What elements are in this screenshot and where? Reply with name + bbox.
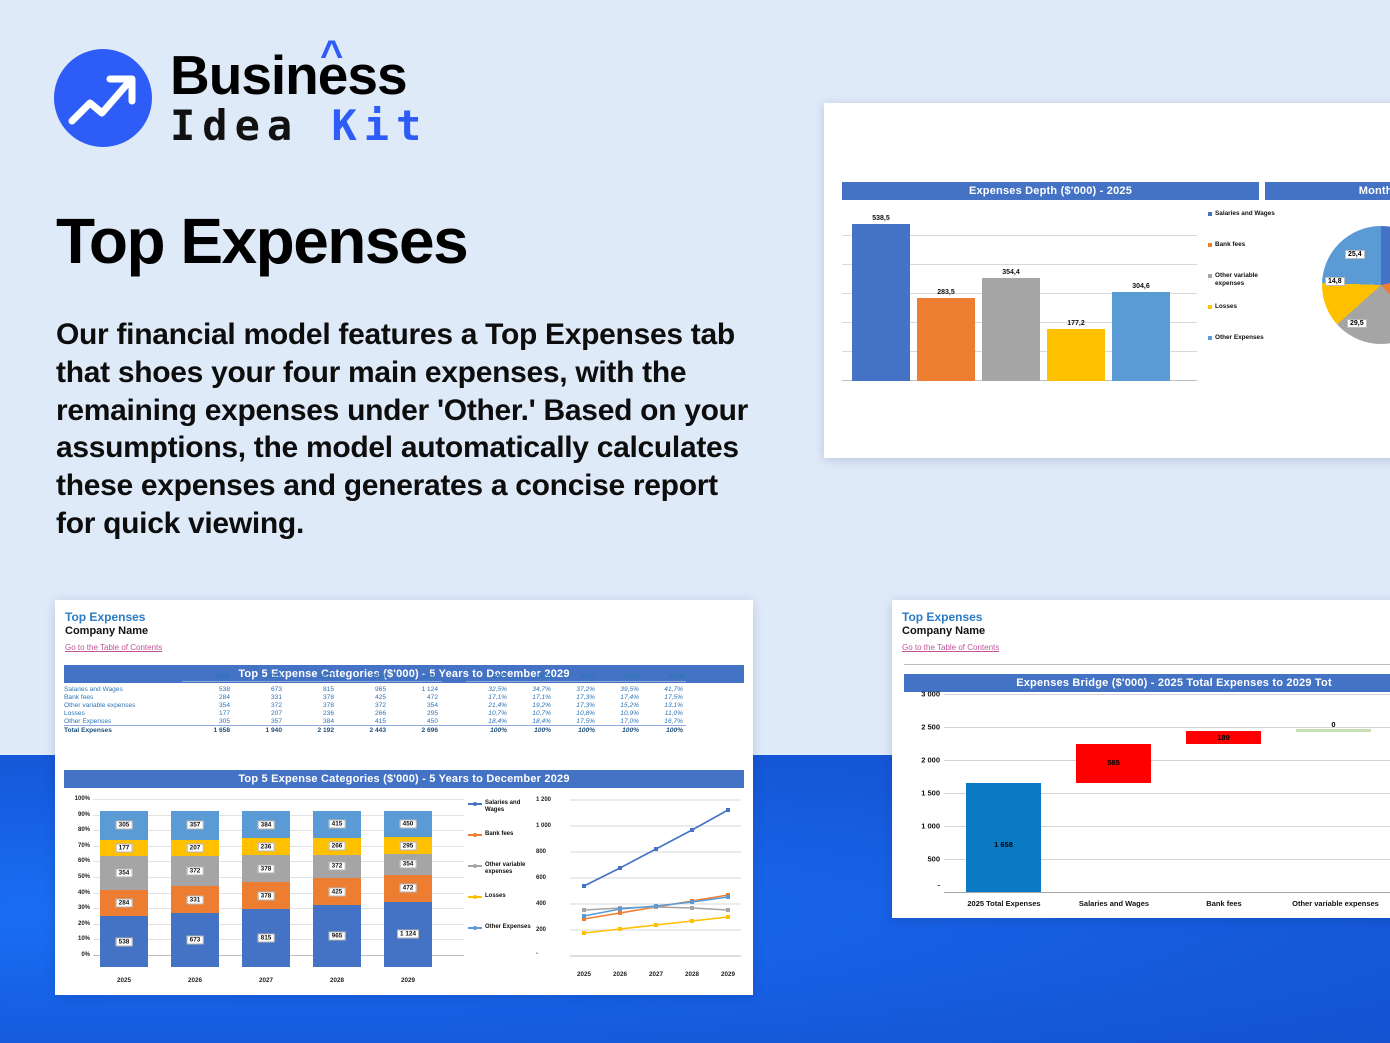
table-of-contents-link[interactable]: Go to the Table of Contents xyxy=(65,643,162,652)
xtick-salaries-and-wages: Salaries and Wages xyxy=(1064,899,1164,908)
stacked-column-2027: 384 236 378 378 815 xyxy=(242,811,290,967)
ytick-3000: 3 000 xyxy=(902,690,940,699)
bar-label-bank-fees: 283,5 xyxy=(917,289,975,296)
row-label-losses: Losses xyxy=(64,709,182,717)
legend-label-other-expenses: Other Expenses xyxy=(485,924,531,930)
stacked-column-2026: 357 207 372 331 673 xyxy=(171,811,219,967)
bar-losses xyxy=(1047,329,1105,381)
ytick-10: 10% xyxy=(64,936,90,942)
stacked-column-2028: 415 266 372 425 965 xyxy=(313,811,361,967)
legend-label-losses: Losses xyxy=(1215,303,1237,310)
sheet-company-name: Company Name xyxy=(902,625,1390,637)
bar-label-salaries-and-wages: 538,5 xyxy=(852,215,910,222)
brand-name-line2: Idea Kit xyxy=(170,105,428,147)
legend-label-salaries-and-wages: Salaries and Wages xyxy=(1215,210,1275,217)
col-header-2025: 2025 xyxy=(182,672,234,681)
ytick-1000: 1 000 xyxy=(902,822,940,831)
pct-header-2027: 2027 xyxy=(554,672,598,681)
chart-title-monthly-run-rate: Monthly Run-Rate ($'000 xyxy=(1265,182,1390,200)
xtick-2029: 2029 xyxy=(384,977,432,984)
table-total-row: Total Expenses 1 658 1 940 2 192 2 443 2… xyxy=(64,726,686,735)
brand-idea-text: Idea xyxy=(170,101,331,150)
sheet-header-left: Top Expenses Company Name Go to the Tabl… xyxy=(55,600,753,655)
expense-trend-line-chart: 1 200 1 000 800 600 400 200 - xyxy=(536,794,746,984)
ytick-100: 100% xyxy=(64,796,90,802)
sheet-company-name: Company Name xyxy=(65,625,753,637)
legend-label-losses: Losses xyxy=(485,893,506,899)
bar-salaries-and-wages xyxy=(852,224,910,381)
hero-description: Our financial model features a Top Expen… xyxy=(56,316,756,543)
ytick-70: 70% xyxy=(64,843,90,849)
xtick-2029: 2029 xyxy=(704,971,752,978)
expenses-depth-bar-chart: 538,5 283,5 354,4 177,2 304,6 xyxy=(842,206,1197,381)
xtick-2027: 2027 xyxy=(242,977,290,984)
ytick-500: 500 xyxy=(902,855,940,864)
stacked-column-chart: 100% 90% 80% 70% 60% 50% 40% 30% 20% 10%… xyxy=(64,794,464,984)
pie-label-other-variable-expenses: 29,5 xyxy=(1347,319,1367,328)
col-header-2026: 2026 xyxy=(234,672,286,681)
sheet-header-right: Top Expenses Company Name Go to the Tabl… xyxy=(892,600,1390,655)
chart-title-bar-top5-categories: Top 5 Expense Categories ($'000) - 5 Yea… xyxy=(64,770,744,788)
pct-header-2026: 2026 xyxy=(510,672,554,681)
pct-header-2028: 2028 xyxy=(598,672,642,681)
circumflex-accent-icon: ^ xyxy=(320,35,342,75)
brand-line1-text: Business xyxy=(170,44,407,106)
waterfall-bar-other-variable-expenses: 0 xyxy=(1296,729,1371,732)
growth-arrow-icon xyxy=(54,49,152,147)
panel-top-expense-categories: Top Expenses Company Name Go to the Tabl… xyxy=(55,600,753,995)
waterfall-bar-salaries-and-wages: 585 xyxy=(1076,744,1151,783)
sheet-title: Top Expenses xyxy=(902,610,1390,624)
stacked-column-2029: 450 295 354 472 1 124 xyxy=(384,811,432,967)
table-row: Losses 177 207 236 266 295 10,7% 10,7% 1… xyxy=(64,709,686,717)
row-label-bank-fees: Bank fees xyxy=(64,693,182,701)
chart-title-expenses-depth: Expenses Depth ($'000) - 2025 xyxy=(842,182,1259,200)
expense-categories-table: 2025 2026 2027 2028 2029 2025 2026 2027 … xyxy=(64,672,744,735)
bar-label-losses: 177,2 xyxy=(1047,320,1105,327)
ytick-zero: - xyxy=(902,881,940,890)
col-header-2029: 2029 xyxy=(390,672,442,681)
legend-label-other-variable-expenses: Other variable expenses xyxy=(1215,272,1258,287)
table-row: Salaries and Wages 538 673 815 965 1 124… xyxy=(64,685,686,693)
xtick-other-variable-expenses: Other variable expenses xyxy=(1278,899,1390,908)
panel-b-chart-area: Top 5 Expense Categories ($'000) - 5 Yea… xyxy=(64,770,744,788)
brand-logo: Business ^ Idea Kit xyxy=(54,48,428,147)
waterfall-bar-bank-fees: 189 xyxy=(1186,731,1261,744)
ytick-20: 20% xyxy=(64,921,90,927)
ytick-1500: 1 500 xyxy=(902,789,940,798)
row-label-salaries-and-wages: Salaries and Wages xyxy=(64,685,182,693)
ytick-60: 60% xyxy=(64,858,90,864)
table-row: Other variable expenses 354 372 378 372 … xyxy=(64,701,686,709)
row-label-total-expenses: Total Expenses xyxy=(64,726,182,735)
ytick-30: 30% xyxy=(64,905,90,911)
ytick-2000: 2 000 xyxy=(902,756,940,765)
panel-expenses-bridge: Top Expenses Company Name Go to the Tabl… xyxy=(892,600,1390,918)
waterfall-bar-2025-total-expenses: 1 658 xyxy=(966,783,1041,892)
table-row: Other Expenses 305 357 384 415 450 18,4%… xyxy=(64,717,686,726)
page-title: Top Expenses xyxy=(56,204,467,278)
xtick-2028: 2028 xyxy=(313,977,361,984)
legend-label-other-variable-expenses: Other variable expenses xyxy=(485,862,525,875)
ytick-90: 90% xyxy=(64,812,90,818)
sheet-title: Top Expenses xyxy=(65,610,753,624)
table-of-contents-link[interactable]: Go to the Table of Contents xyxy=(902,643,999,652)
table-row: Bank fees 284 331 378 425 472 17,1% 17,1… xyxy=(64,693,686,701)
legend-label-other-expenses: Other Expenses xyxy=(1215,334,1264,341)
expenses-bridge-waterfall-chart: 3 000 2 500 2 000 1 500 1 000 500 - 1 65… xyxy=(902,680,1390,908)
ytick-2500: 2 500 xyxy=(902,723,940,732)
xtick-2025-total-expenses: 2025 Total Expenses xyxy=(954,899,1054,908)
legend-label-bank-fees: Bank fees xyxy=(485,831,513,837)
legend-label-bank-fees: Bank fees xyxy=(1215,241,1245,248)
xtick-2025: 2025 xyxy=(100,977,148,984)
pct-header-2025: 2025 xyxy=(466,672,510,681)
panel-a-title-row: Expenses Depth ($'000) - 2025 Monthly Ru… xyxy=(842,182,1390,200)
table-header-row: 2025 2026 2027 2028 2029 2025 2026 2027 … xyxy=(64,672,686,681)
ytick-0: 0% xyxy=(64,952,90,958)
bar-other-expenses xyxy=(1112,292,1170,381)
ytick-40: 40% xyxy=(64,890,90,896)
bar-bank-fees xyxy=(917,298,975,381)
bar-label-other-expenses: 304,6 xyxy=(1112,283,1170,290)
brand-name-line1: Business ^ xyxy=(170,48,428,103)
ytick-80: 80% xyxy=(64,827,90,833)
col-header-2027: 2027 xyxy=(286,672,338,681)
ytick-50: 50% xyxy=(64,874,90,880)
row-label-other-expenses: Other Expenses xyxy=(64,717,182,726)
bar-label-other-variable-expenses: 354,4 xyxy=(982,269,1040,276)
pie-label-other-expenses: 25,4 xyxy=(1345,250,1365,259)
row-label-other-variable-expenses: Other variable expenses xyxy=(64,701,182,709)
panel-expenses-depth: Expenses Depth ($'000) - 2025 Monthly Ru… xyxy=(824,103,1390,458)
stacked-column-2025: 305 177 354 284 538 xyxy=(100,811,148,967)
brand-kit-text: Kit xyxy=(331,101,428,150)
pie-label-losses: 14,8 xyxy=(1325,277,1345,286)
xtick-bank-fees: Bank fees xyxy=(1174,899,1274,908)
xtick-2026: 2026 xyxy=(171,977,219,984)
panel-a-charts: 538,5 283,5 354,4 177,2 304,6 Salaries a… xyxy=(842,206,1390,386)
bar-other-variable-expenses xyxy=(982,278,1040,381)
col-header-2028: 2028 xyxy=(338,672,390,681)
pct-header-2029: 2029 xyxy=(642,672,686,681)
legend-label-salaries-and-wages: Salaries and Wages xyxy=(485,800,520,813)
